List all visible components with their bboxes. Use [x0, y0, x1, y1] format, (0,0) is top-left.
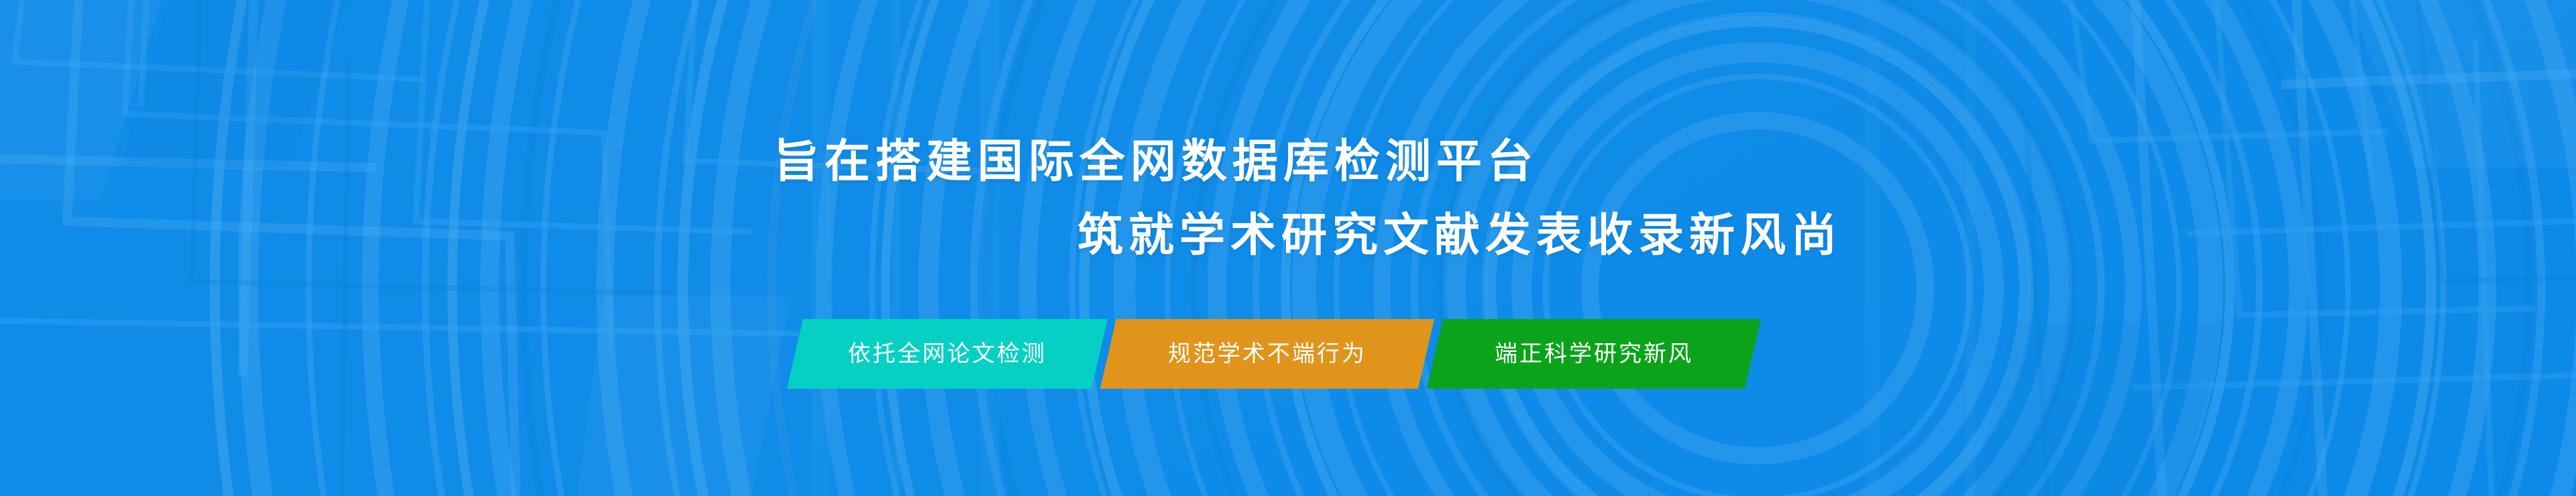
feature-tag-bar: 依托全网论文检测 规范学术不端行为 端正科学研究新风: [778, 319, 1805, 389]
feature-tag-label: 端正科学研究新风: [1495, 343, 1693, 365]
headline-line-2: 筑就学术研究文献发表收录新风尚: [1077, 213, 1842, 259]
feature-tag-label: 依托全网论文检测: [848, 343, 1046, 365]
promo-banner: 旨在搭建国际全网数据库检测平台 筑就学术研究文献发表收录新风尚 依托全网论文检测…: [0, 0, 2576, 496]
feature-tag-research-ethics[interactable]: 端正科学研究新风: [1427, 319, 1761, 389]
feature-tag-paper-detection[interactable]: 依托全网论文检测: [787, 319, 1108, 389]
feature-tag-academic-misconduct[interactable]: 规范学术不端行为: [1100, 319, 1434, 389]
feature-tag-label: 规范学术不端行为: [1168, 343, 1366, 365]
headline-line-1: 旨在搭建国际全网数据库检测平台: [773, 139, 1538, 185]
banner-content: 旨在搭建国际全网数据库检测平台 筑就学术研究文献发表收录新风尚 依托全网论文检测…: [0, 0, 2576, 496]
